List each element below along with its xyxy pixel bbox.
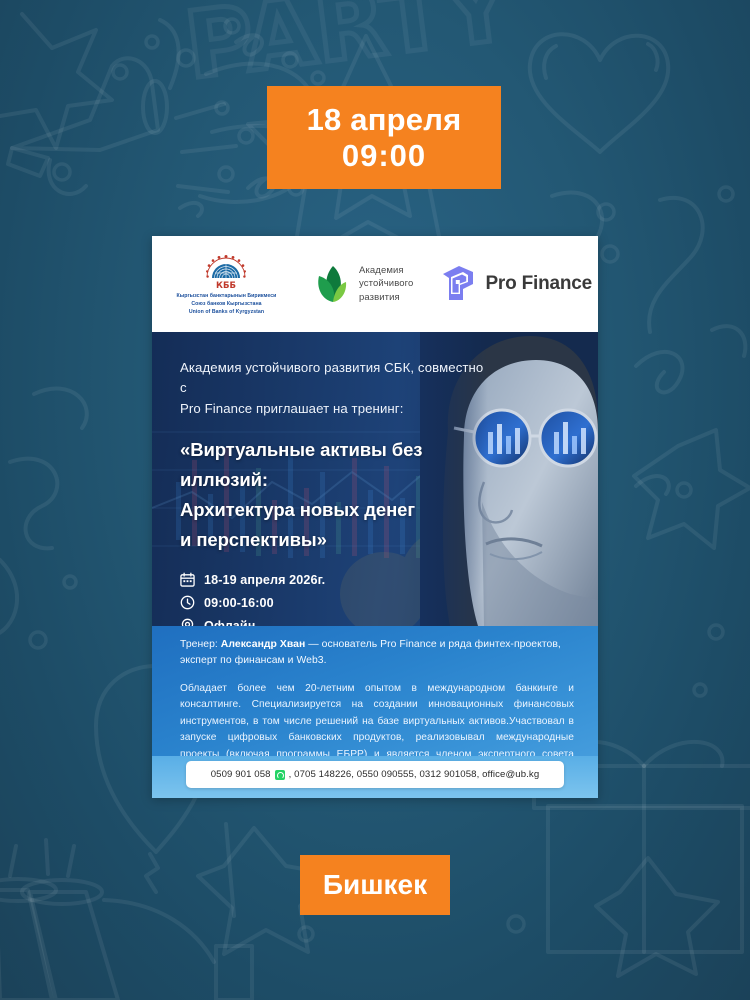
meta-row-date: 18-19 апреля 2026г. (180, 572, 482, 587)
contact-bar[interactable]: 0509 901 058 , 0705 148226, 0550 090555,… (186, 761, 564, 788)
partner-logo-strip: КББ Кыргызстан банктарынын Бирикмеси Сою… (152, 236, 598, 332)
trainer-name: Александр Хван (221, 639, 306, 650)
meta-value-time: 09:00-16:00 (204, 596, 274, 610)
kbb-line3: Union of Banks of Kyrgyzstan (177, 309, 277, 317)
hero-title: «Виртуальные активы без иллюзий: Архитек… (180, 435, 510, 555)
academy-line3: развития (359, 291, 413, 304)
meta-row-location: Офлайн (180, 618, 482, 626)
meta-row-time: 09:00-16:00 (180, 595, 482, 610)
calendar-icon (180, 572, 195, 587)
trainer-lead-prefix: Тренер: (180, 639, 221, 650)
clock-icon (180, 595, 195, 610)
city-badge: Бишкек (300, 855, 450, 915)
meta-value-date: 18-19 апреля 2026г. (204, 573, 325, 587)
contact-phone-primary: 0509 901 058 (211, 769, 271, 780)
swirl-icon (0, 388, 87, 636)
hero-content: Академия устойчивого развития СБК, совме… (152, 332, 482, 626)
svg-text:КББ: КББ (217, 281, 237, 291)
kbb-emblem-icon: КББ (203, 251, 249, 291)
megaphone-icon (8, 58, 167, 194)
whatsapp-icon (275, 770, 285, 780)
green-leaves-icon (313, 263, 353, 305)
city-badge-label: Бишкек (323, 869, 427, 901)
academy-line2: устойчивого (359, 277, 413, 290)
kbb-line1: Кыргызстан банктарынын Бирикмеси (177, 293, 277, 301)
logo-pro-finance: Pro Finance (433, 264, 592, 304)
poster-hero: Академия устойчивого развития СБК, совме… (152, 332, 598, 626)
logo-academy: Академия устойчивого развития (293, 263, 433, 305)
date-time-badge: 18 апреля 09:00 (267, 86, 501, 189)
location-pin-icon (180, 618, 195, 626)
hero-title-line1: «Виртуальные активы без иллюзий: (180, 435, 510, 495)
logo-kbb: КББ Кыргызстан банктарынын Бирикмеси Сою… (160, 251, 293, 316)
event-poster: КББ Кыргызстан банктарынын Бирикмеси Сою… (152, 236, 598, 798)
date-badge-line1: 18 апреля (307, 102, 462, 137)
hero-meta-list: 18-19 апреля 2026г. 09:00-16:00 (180, 572, 482, 626)
trainer-lead: Тренер: Александр Хван — основатель Pro … (180, 637, 574, 669)
kbb-line2: Союз банков Кыргызстана (177, 301, 277, 309)
poster-page: PARTY (0, 0, 750, 1000)
sparkle-icon (226, 824, 234, 916)
party-watermark-text: PARTY (180, 0, 518, 100)
hero-kicker-line2: Pro Finance приглашает на тренинг: (180, 399, 492, 419)
hero-title-line3: и перспективы» (180, 525, 510, 555)
hero-kicker-line1: Академия устойчивого развития СБК, совме… (180, 358, 492, 399)
contact-rest: , 0705 148226, 0550 090555, 0312 901058,… (289, 769, 540, 780)
pro-finance-label: Pro Finance (485, 273, 592, 295)
meta-value-location: Офлайн (204, 619, 255, 626)
pro-finance-cube-icon (439, 264, 477, 304)
cheers-cups-icon (0, 840, 252, 1000)
hero-title-line2: Архитектура новых денег (180, 495, 510, 525)
hero-kicker: Академия устойчивого развития СБК, совме… (180, 358, 492, 419)
heart-icon (530, 34, 668, 152)
academy-line1: Академия (359, 264, 413, 277)
date-badge-line2: 09:00 (342, 138, 426, 173)
